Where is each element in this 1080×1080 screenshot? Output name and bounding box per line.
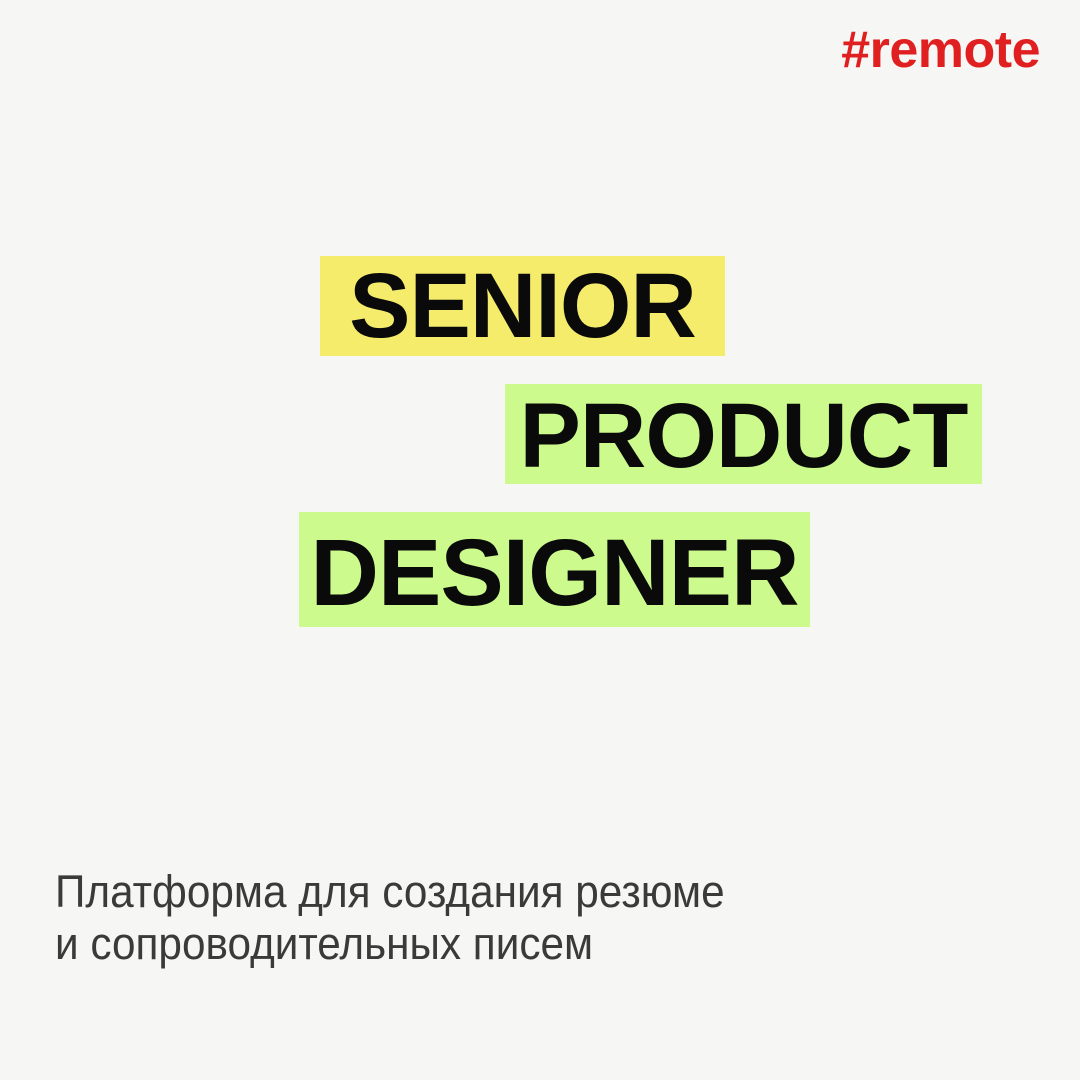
subtitle-line-1: Платформа для создания резюме <box>55 866 826 918</box>
job-poster-canvas: #remote SENIOR PRODUCT DESIGNER Платформ… <box>0 0 1080 1080</box>
headline-line-designer: DESIGNER <box>299 512 810 627</box>
subtitle: Платформа для создания резюме и сопровод… <box>55 866 875 970</box>
subtitle-line-2: и сопроводительных писем <box>55 918 826 970</box>
headline-line-product: PRODUCT <box>505 384 982 484</box>
headline-line-senior: SENIOR <box>320 256 725 356</box>
remote-tag: #remote <box>841 24 1040 76</box>
